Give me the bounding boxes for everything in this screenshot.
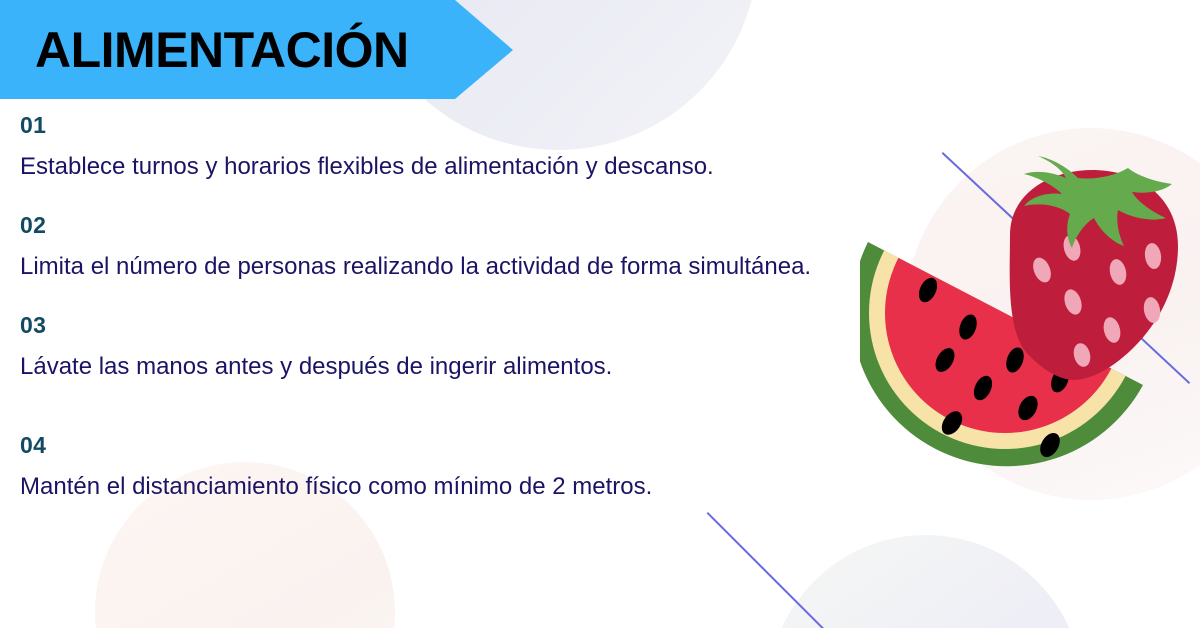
recommendation-list: 01 Establece turnos y horarios flexibles…	[20, 112, 830, 502]
decorative-circle-bottom-right	[768, 535, 1083, 628]
fruit-illustration	[860, 150, 1200, 480]
list-item-text: Lávate las manos antes y después de inge…	[20, 351, 830, 382]
page-title: ALIMENTACIÓN	[35, 21, 409, 79]
strawberry-icon	[1010, 156, 1178, 380]
list-item: 01 Establece turnos y horarios flexibles…	[20, 112, 830, 182]
list-item-number: 03	[20, 312, 830, 338]
list-item: 03 Lávate las manos antes y después de i…	[20, 312, 830, 382]
list-item: 02 Limita el número de personas realizan…	[20, 212, 830, 282]
list-item-text: Mantén el distanciamiento físico como mí…	[20, 471, 830, 502]
list-item-number: 01	[20, 112, 830, 138]
slide-canvas: ALIMENTACIÓN 01 Establece turnos y horar…	[0, 0, 1200, 628]
list-item-text: Limita el número de personas realizando …	[20, 251, 830, 282]
list-item: 04 Mantén el distanciamiento físico como…	[20, 432, 830, 502]
decorative-diagonal-line-bottom	[707, 512, 827, 628]
list-item-number: 04	[20, 432, 830, 458]
list-item-text: Establece turnos y horarios flexibles de…	[20, 151, 830, 182]
list-item-number: 02	[20, 212, 830, 238]
